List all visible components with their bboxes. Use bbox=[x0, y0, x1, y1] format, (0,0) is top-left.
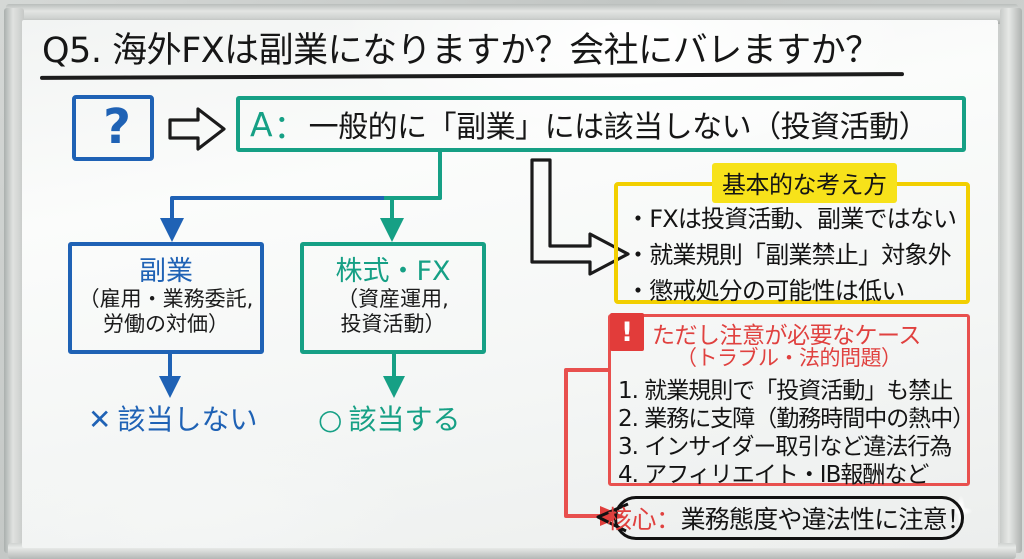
category-sub-investment-2: 投資活動） bbox=[341, 312, 446, 338]
exclamation-icon: ! bbox=[610, 313, 644, 351]
category-title-investment: 株式・FX bbox=[335, 258, 450, 286]
answer-box: A ： 一般的に「副業」には該当しない（投資活動） bbox=[236, 96, 966, 152]
whiteboard-frame: Q5. 海外FXは副業になりますか？会社にバレますか？ ? A ： 一般的に「副… bbox=[0, 0, 1024, 559]
verdict-investment: ○該当する bbox=[318, 398, 460, 438]
category-box-side-job: 副業 （雇用・業務委託, 労働の対価） bbox=[68, 242, 264, 354]
answer-text: 一般的に「副業」には該当しない（投資活動） bbox=[309, 102, 929, 146]
question-mark-icon: ? bbox=[76, 94, 158, 160]
conclusion-bubble: 核心： 業務態度や違法性に注意！ bbox=[614, 496, 964, 540]
category-title-side-job: 副業 bbox=[139, 258, 193, 286]
answer-letter: A bbox=[250, 105, 273, 144]
caution-header-line-2: （トラブル・法的問題） bbox=[676, 342, 902, 372]
category-box-investment: 株式・FX （資産運用, 投資活動） bbox=[300, 242, 486, 354]
verdict-circle-icon: ○ bbox=[318, 403, 342, 436]
verdict-investment-label: 該当する bbox=[348, 403, 460, 436]
verdict-connector-green bbox=[374, 354, 414, 400]
category-sub-side-job-2: 労働の対価） bbox=[103, 312, 229, 338]
verdict-side-job: ✕該当しない bbox=[88, 398, 257, 438]
basic-idea-bullet-3: ・懲戒処分の可能性は低い bbox=[626, 271, 904, 306]
page-title: Q5. 海外FXは副業になりますか？会社にバレますか？ bbox=[42, 22, 880, 73]
frame-left-rail bbox=[4, 8, 24, 553]
conclusion-text: 業務態度や違法性に注意！ bbox=[681, 500, 971, 536]
question-box: ? bbox=[72, 95, 154, 161]
category-sub-investment-1: （資産運用, bbox=[337, 287, 449, 313]
verdict-side-job-label: 該当しない bbox=[117, 403, 257, 436]
verdict-connector-blue bbox=[150, 354, 190, 400]
conclusion-key-label: 核心： bbox=[607, 500, 681, 536]
frame-right-rail bbox=[1000, 8, 1022, 553]
basic-idea-bullet-1: ・FXは投資活動、副業ではない bbox=[626, 199, 956, 234]
answer-colon: ： bbox=[274, 100, 307, 148]
category-sub-side-job-1: （雇用・業務委託, bbox=[79, 287, 254, 313]
basic-idea-bullet-2: ・就業規則「副業禁止」対象外 bbox=[626, 235, 951, 270]
arrow-question-to-answer-icon bbox=[168, 104, 226, 154]
branch-connector-green bbox=[288, 150, 548, 250]
verdict-cross-icon: ✕ bbox=[88, 403, 111, 436]
basic-idea-header: 基本的な考え方 bbox=[712, 163, 897, 203]
